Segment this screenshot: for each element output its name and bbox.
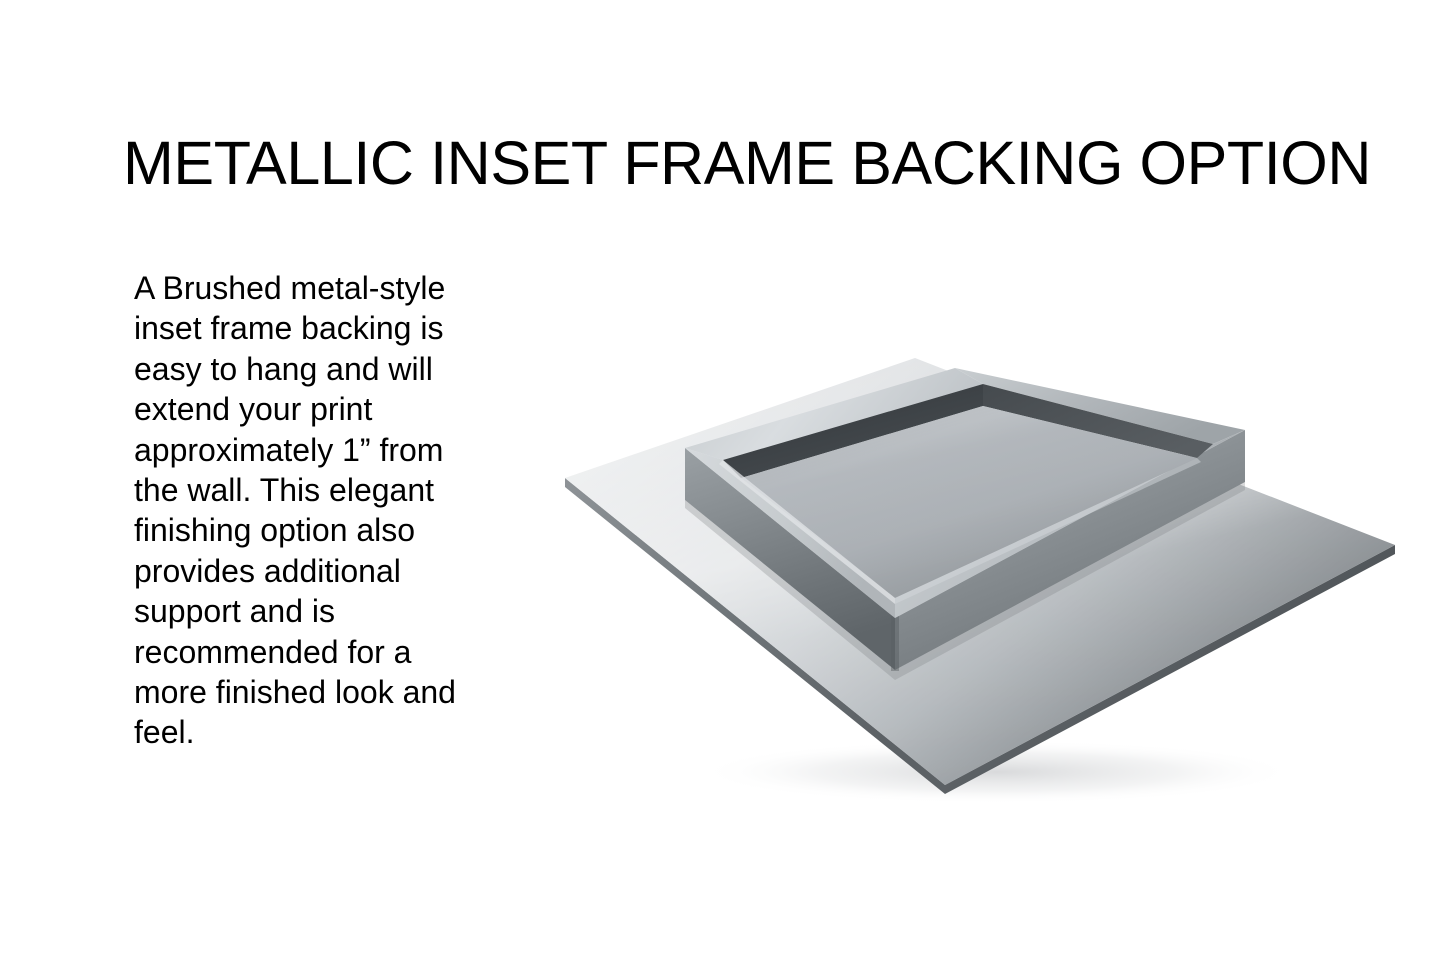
frame-wall-corner-crease [891, 616, 899, 671]
slide-canvas: METALLIC INSET FRAME BACKING OPTION A Br… [0, 0, 1445, 963]
page-title: METALLIC INSET FRAME BACKING OPTION [123, 131, 1373, 195]
body-paragraph: A Brushed metal-style inset frame backin… [134, 268, 482, 753]
metallic-inset-frame-photo [545, 340, 1425, 820]
